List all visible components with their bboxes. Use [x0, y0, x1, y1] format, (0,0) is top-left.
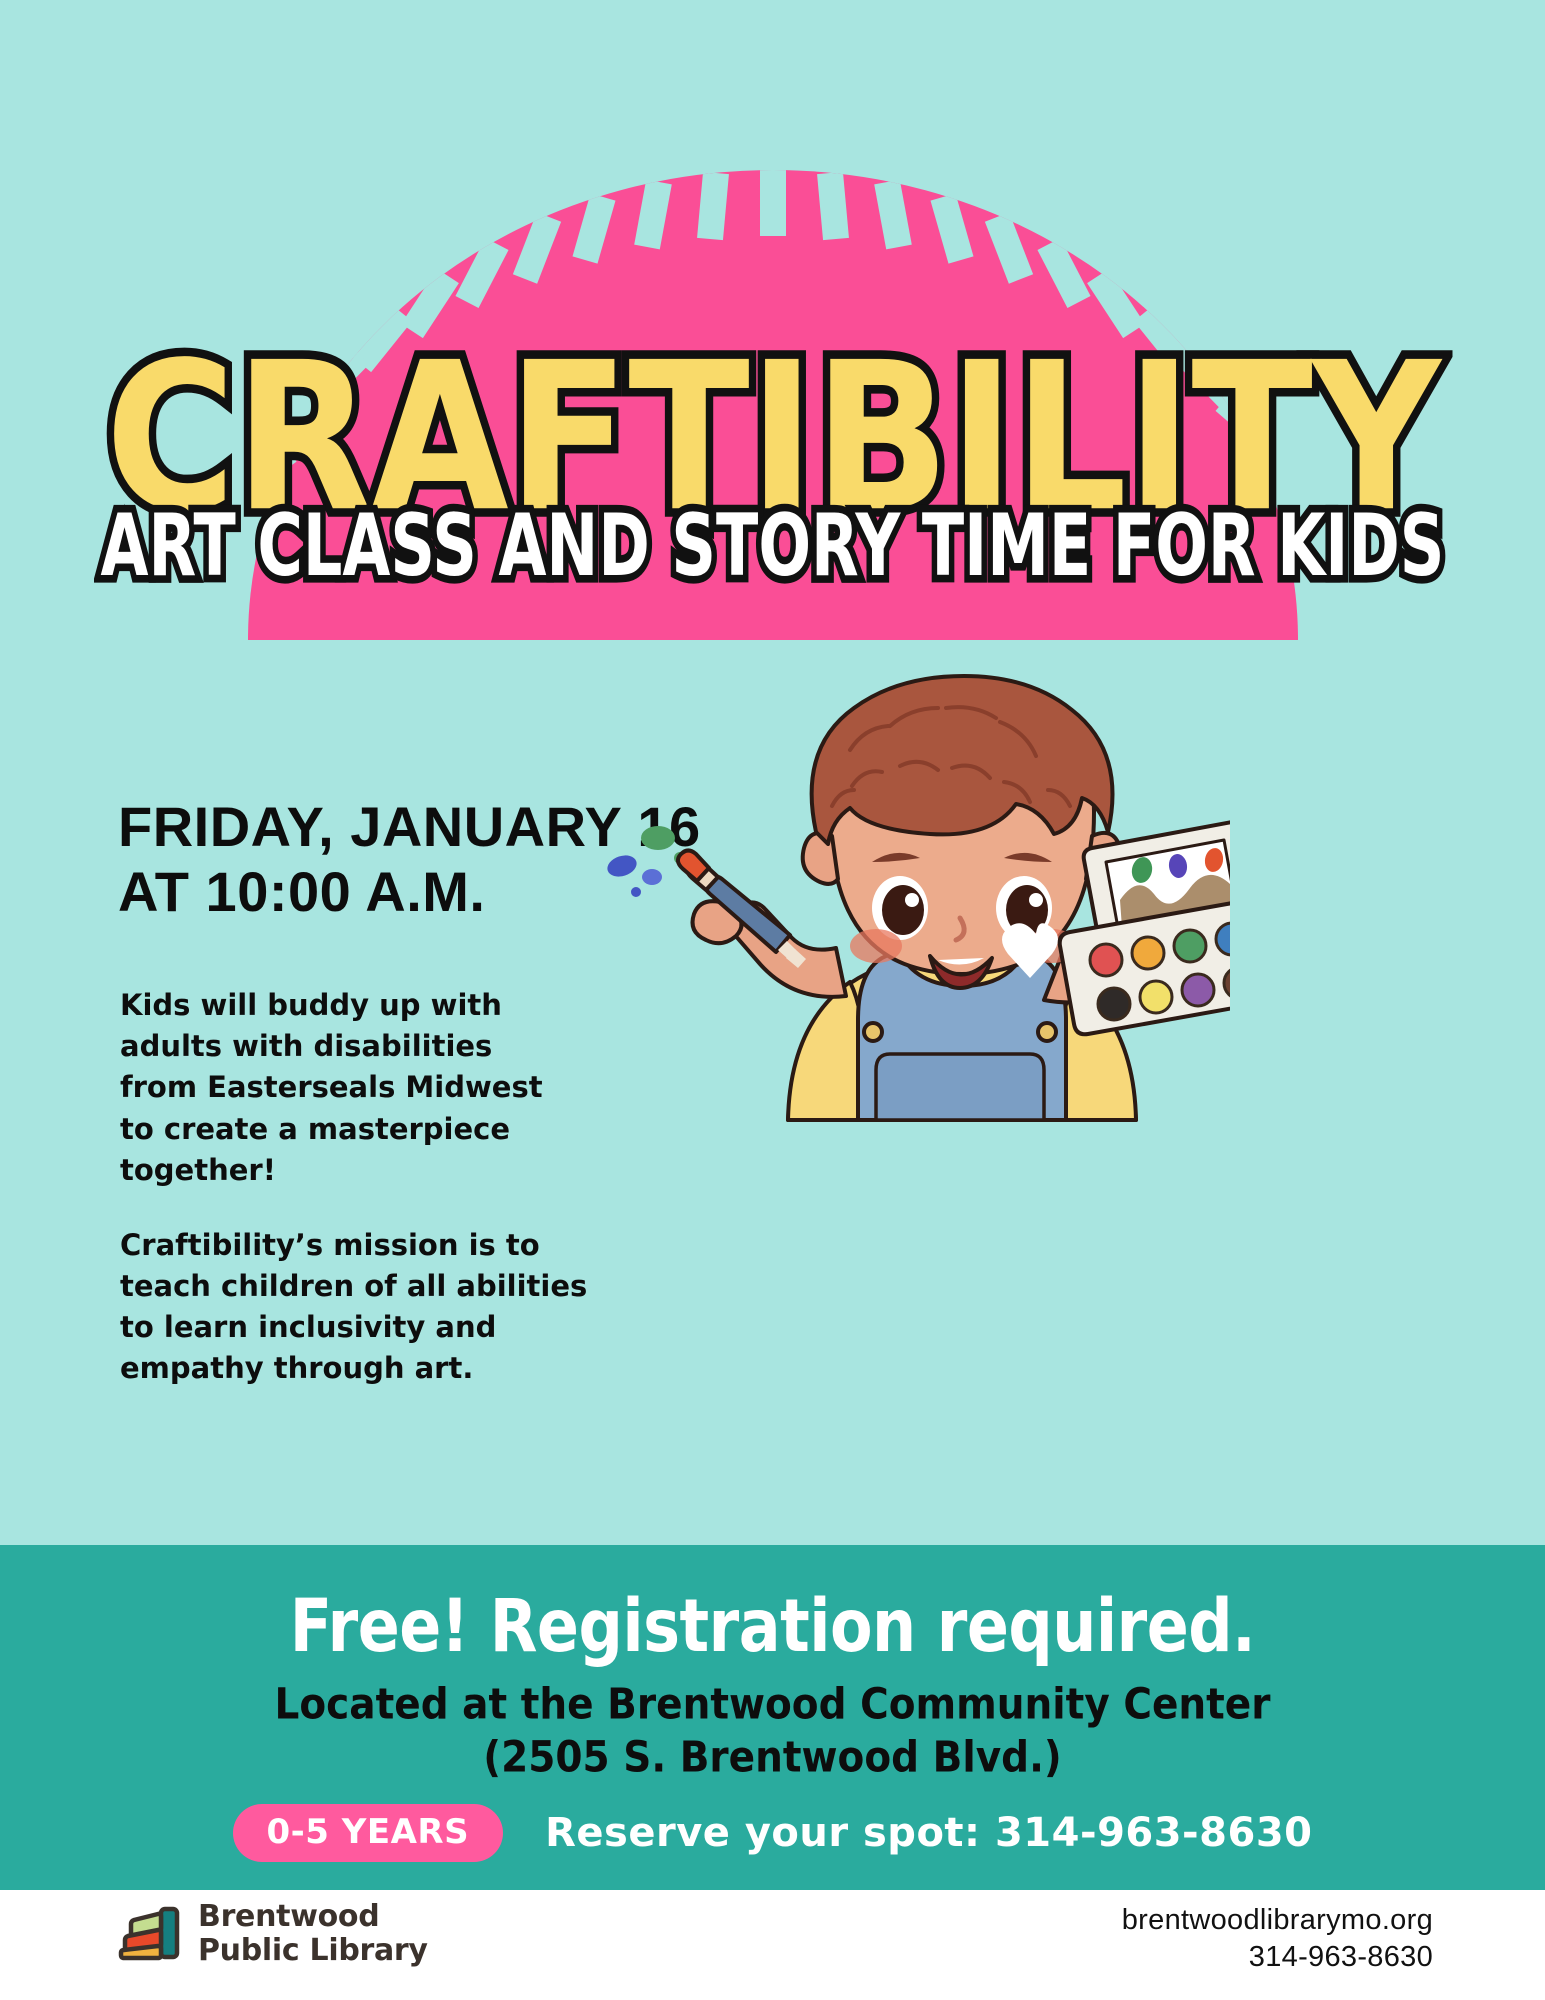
description-paragraph-2: Craftibility’s mission is to teach child…	[120, 1225, 590, 1390]
logo-line-2: Public Library	[198, 1934, 428, 1968]
location-line-2: (2505 S. Brentwood Blvd.)	[0, 1731, 1545, 1783]
footer-website[interactable]: brentwoodlibrarymo.org	[1122, 1902, 1433, 1939]
location-info: Located at the Brentwood Community Cente…	[0, 1679, 1545, 1784]
child-with-paint-palette-illustration	[600, 600, 1230, 1220]
registration-headline: Free! Registration required.	[0, 1545, 1545, 1663]
arch-shape	[248, 170, 1298, 640]
paint-splatter	[605, 826, 686, 897]
reserve-phone-text[interactable]: Reserve your spot: 314-963-8630	[545, 1813, 1312, 1853]
registration-band: Free! Registration required. Located at …	[0, 1545, 1545, 1890]
paint-palette	[1060, 822, 1230, 1035]
age-range-badge: 0-5 YEARS	[233, 1804, 504, 1862]
poster-background: CRAFTIBILITY ART CLASS AND STORY TIME FO…	[0, 0, 1545, 1545]
stacked-books-icon	[118, 1905, 182, 1963]
library-logo[interactable]: Brentwood Public Library	[118, 1900, 428, 1967]
footer-phone[interactable]: 314-963-8630	[1122, 1939, 1433, 1976]
footer-contact: brentwoodlibrarymo.org 314-963-8630	[1122, 1902, 1433, 1976]
description-paragraph-1: Kids will buddy up with adults with disa…	[120, 985, 565, 1191]
footer: Brentwood Public Library brentwoodlibrar…	[0, 1890, 1545, 2000]
library-logo-text: Brentwood Public Library	[198, 1900, 428, 1967]
location-line-1: Located at the Brentwood Community Cente…	[0, 1679, 1545, 1731]
pink-arch-header-graphic	[0, 0, 1545, 640]
logo-line-1: Brentwood	[198, 1900, 428, 1934]
event-description: Kids will buddy up with adults with disa…	[120, 985, 565, 1390]
event-flyer: CRAFTIBILITY ART CLASS AND STORY TIME FO…	[0, 0, 1545, 2000]
registration-actions: 0-5 YEARS Reserve your spot: 314-963-863…	[0, 1804, 1545, 1862]
